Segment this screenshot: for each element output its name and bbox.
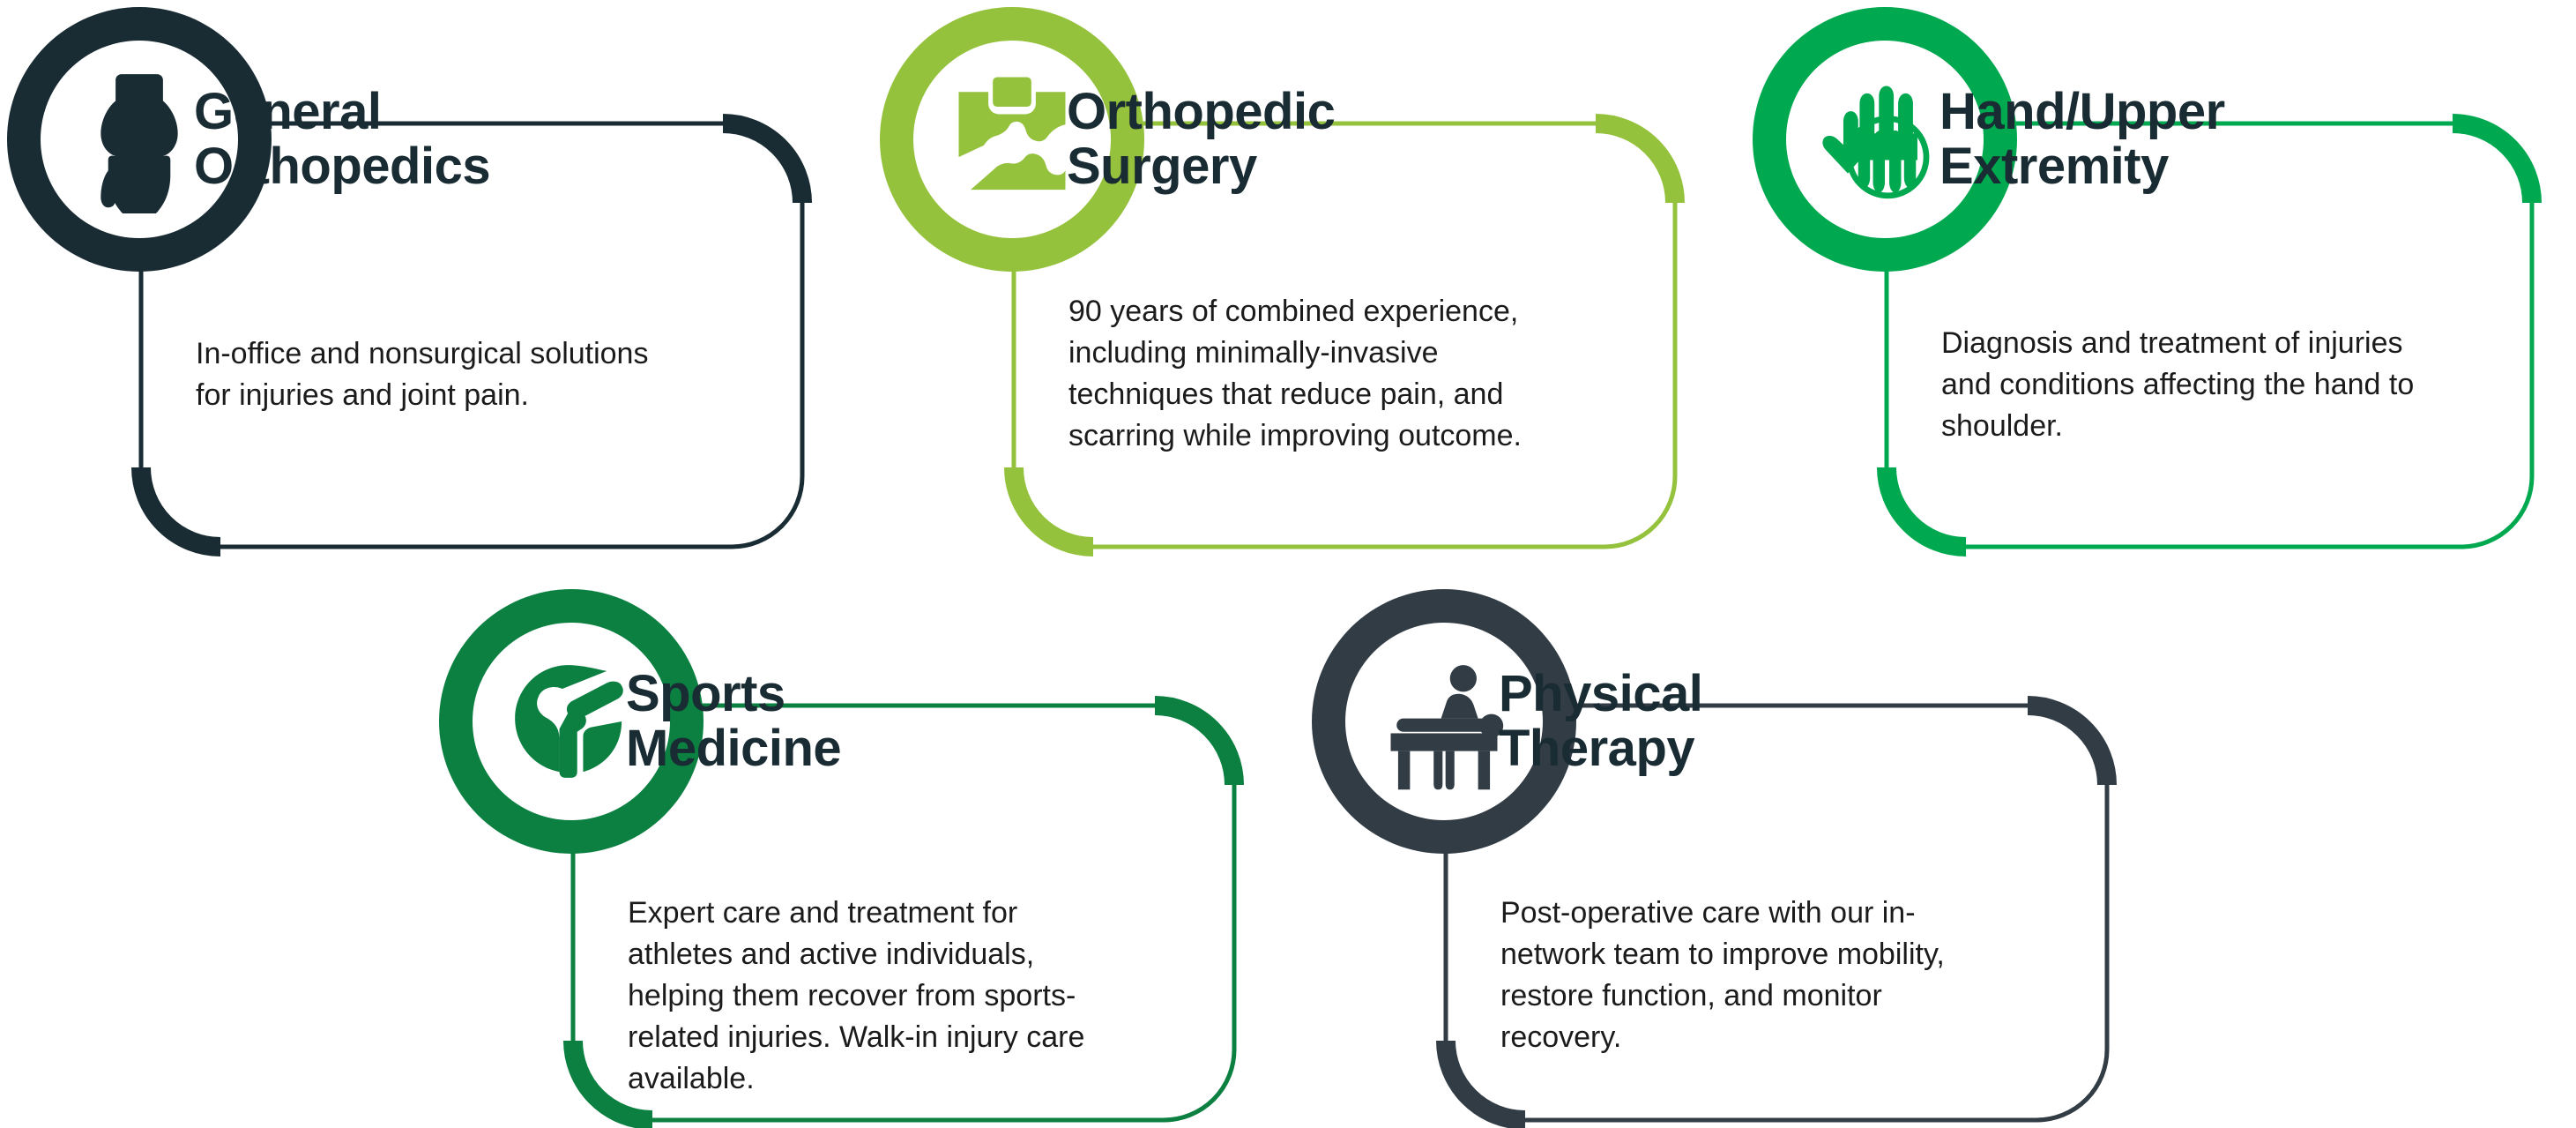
card-body: Expert care and treatment for athletes a…: [628, 893, 1121, 1100]
knee-joint-icon: [65, 65, 213, 213]
service-card-sports-medicine[interactable]: Sports Medicine Expert care and treatmen…: [432, 582, 1278, 1128]
card-title: Physical Therapy: [1499, 667, 1992, 776]
service-card-general-orthopedics[interactable]: General Orthopedics In-office and nonsur…: [0, 0, 846, 582]
card-title: General Orthopedics: [194, 85, 688, 194]
service-card-physical-therapy[interactable]: Physical Therapy Post-operative care wit…: [1305, 582, 2151, 1128]
xray-clipboard-hip-icon: [938, 65, 1086, 213]
card-body: Diagnosis and treatment of injuries and …: [1941, 323, 2444, 447]
card-body: In-office and nonsurgical solutions for …: [196, 333, 672, 416]
card-title: Orthopedic Surgery: [1067, 85, 1560, 194]
card-title: Sports Medicine: [626, 667, 1120, 776]
services-infographic: General Orthopedics In-office and nonsur…: [0, 0, 2576, 1128]
xray-hand-icon: [1811, 65, 1959, 213]
service-card-orthopedic-surgery[interactable]: Orthopedic Surgery 90 years of combined …: [873, 0, 1719, 582]
therapy-table-icon: [1370, 647, 1518, 796]
bent-knee-joint-icon: [497, 647, 645, 796]
card-body: 90 years of combined experience, includi…: [1068, 291, 1562, 457]
service-card-hand-upper-extremity[interactable]: Hand/Upper Extremity Diagnosis and treat…: [1746, 0, 2576, 582]
card-body: Post-operative care with our in-network …: [1500, 893, 1994, 1058]
card-title: Hand/Upper Extremity: [1939, 85, 2468, 194]
